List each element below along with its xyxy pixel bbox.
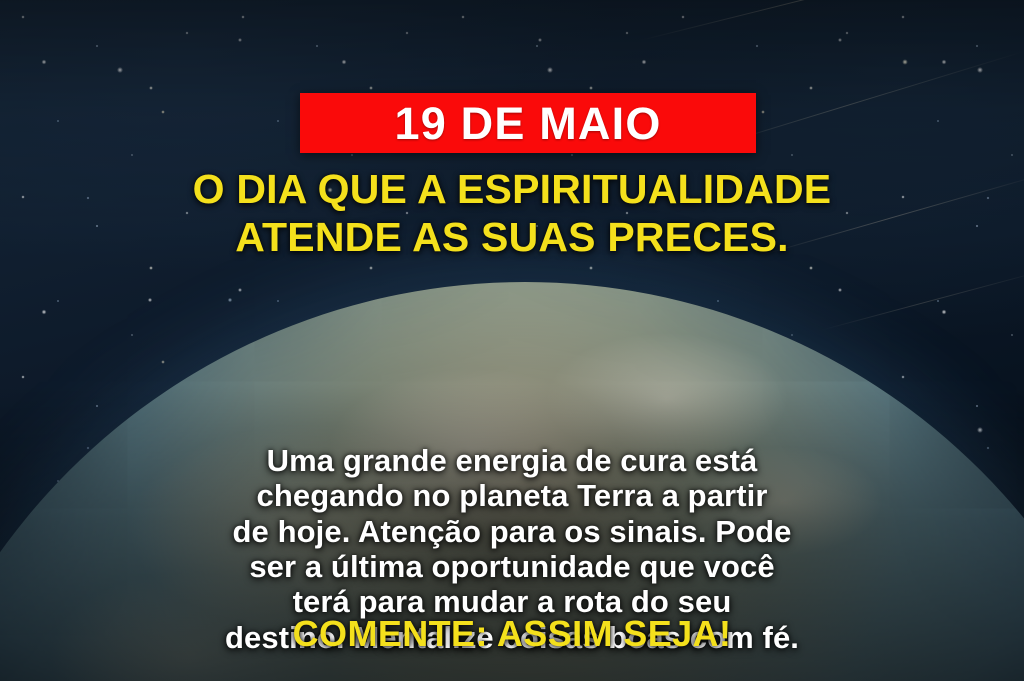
- headline-line-1: O DIA QUE A ESPIRITUALIDADE: [0, 166, 1024, 214]
- date-banner: 19 DE MAIO: [300, 93, 756, 153]
- headline-line-2: ATENDE AS SUAS PRECES.: [0, 214, 1024, 262]
- poster-content: 19 DE MAIO O DIA QUE A ESPIRITUALIDADE A…: [0, 0, 1024, 685]
- body-line-2: chegando no planeta Terra a partir: [0, 478, 1024, 513]
- body-line-4: ser a última oportunidade que você: [0, 549, 1024, 584]
- call-to-action-text: COMENTE: ASSIM SEJA!: [0, 613, 1024, 655]
- headline: O DIA QUE A ESPIRITUALIDADE ATENDE AS SU…: [0, 166, 1024, 262]
- body-line-3: de hoje. Atenção para os sinais. Pode: [0, 514, 1024, 549]
- bottom-edge-strip: [0, 681, 1024, 685]
- body-line-1: Uma grande energia de cura está: [0, 443, 1024, 478]
- poster-canvas: 19 DE MAIO O DIA QUE A ESPIRITUALIDADE A…: [0, 0, 1024, 685]
- date-banner-label: 19 DE MAIO: [394, 101, 661, 146]
